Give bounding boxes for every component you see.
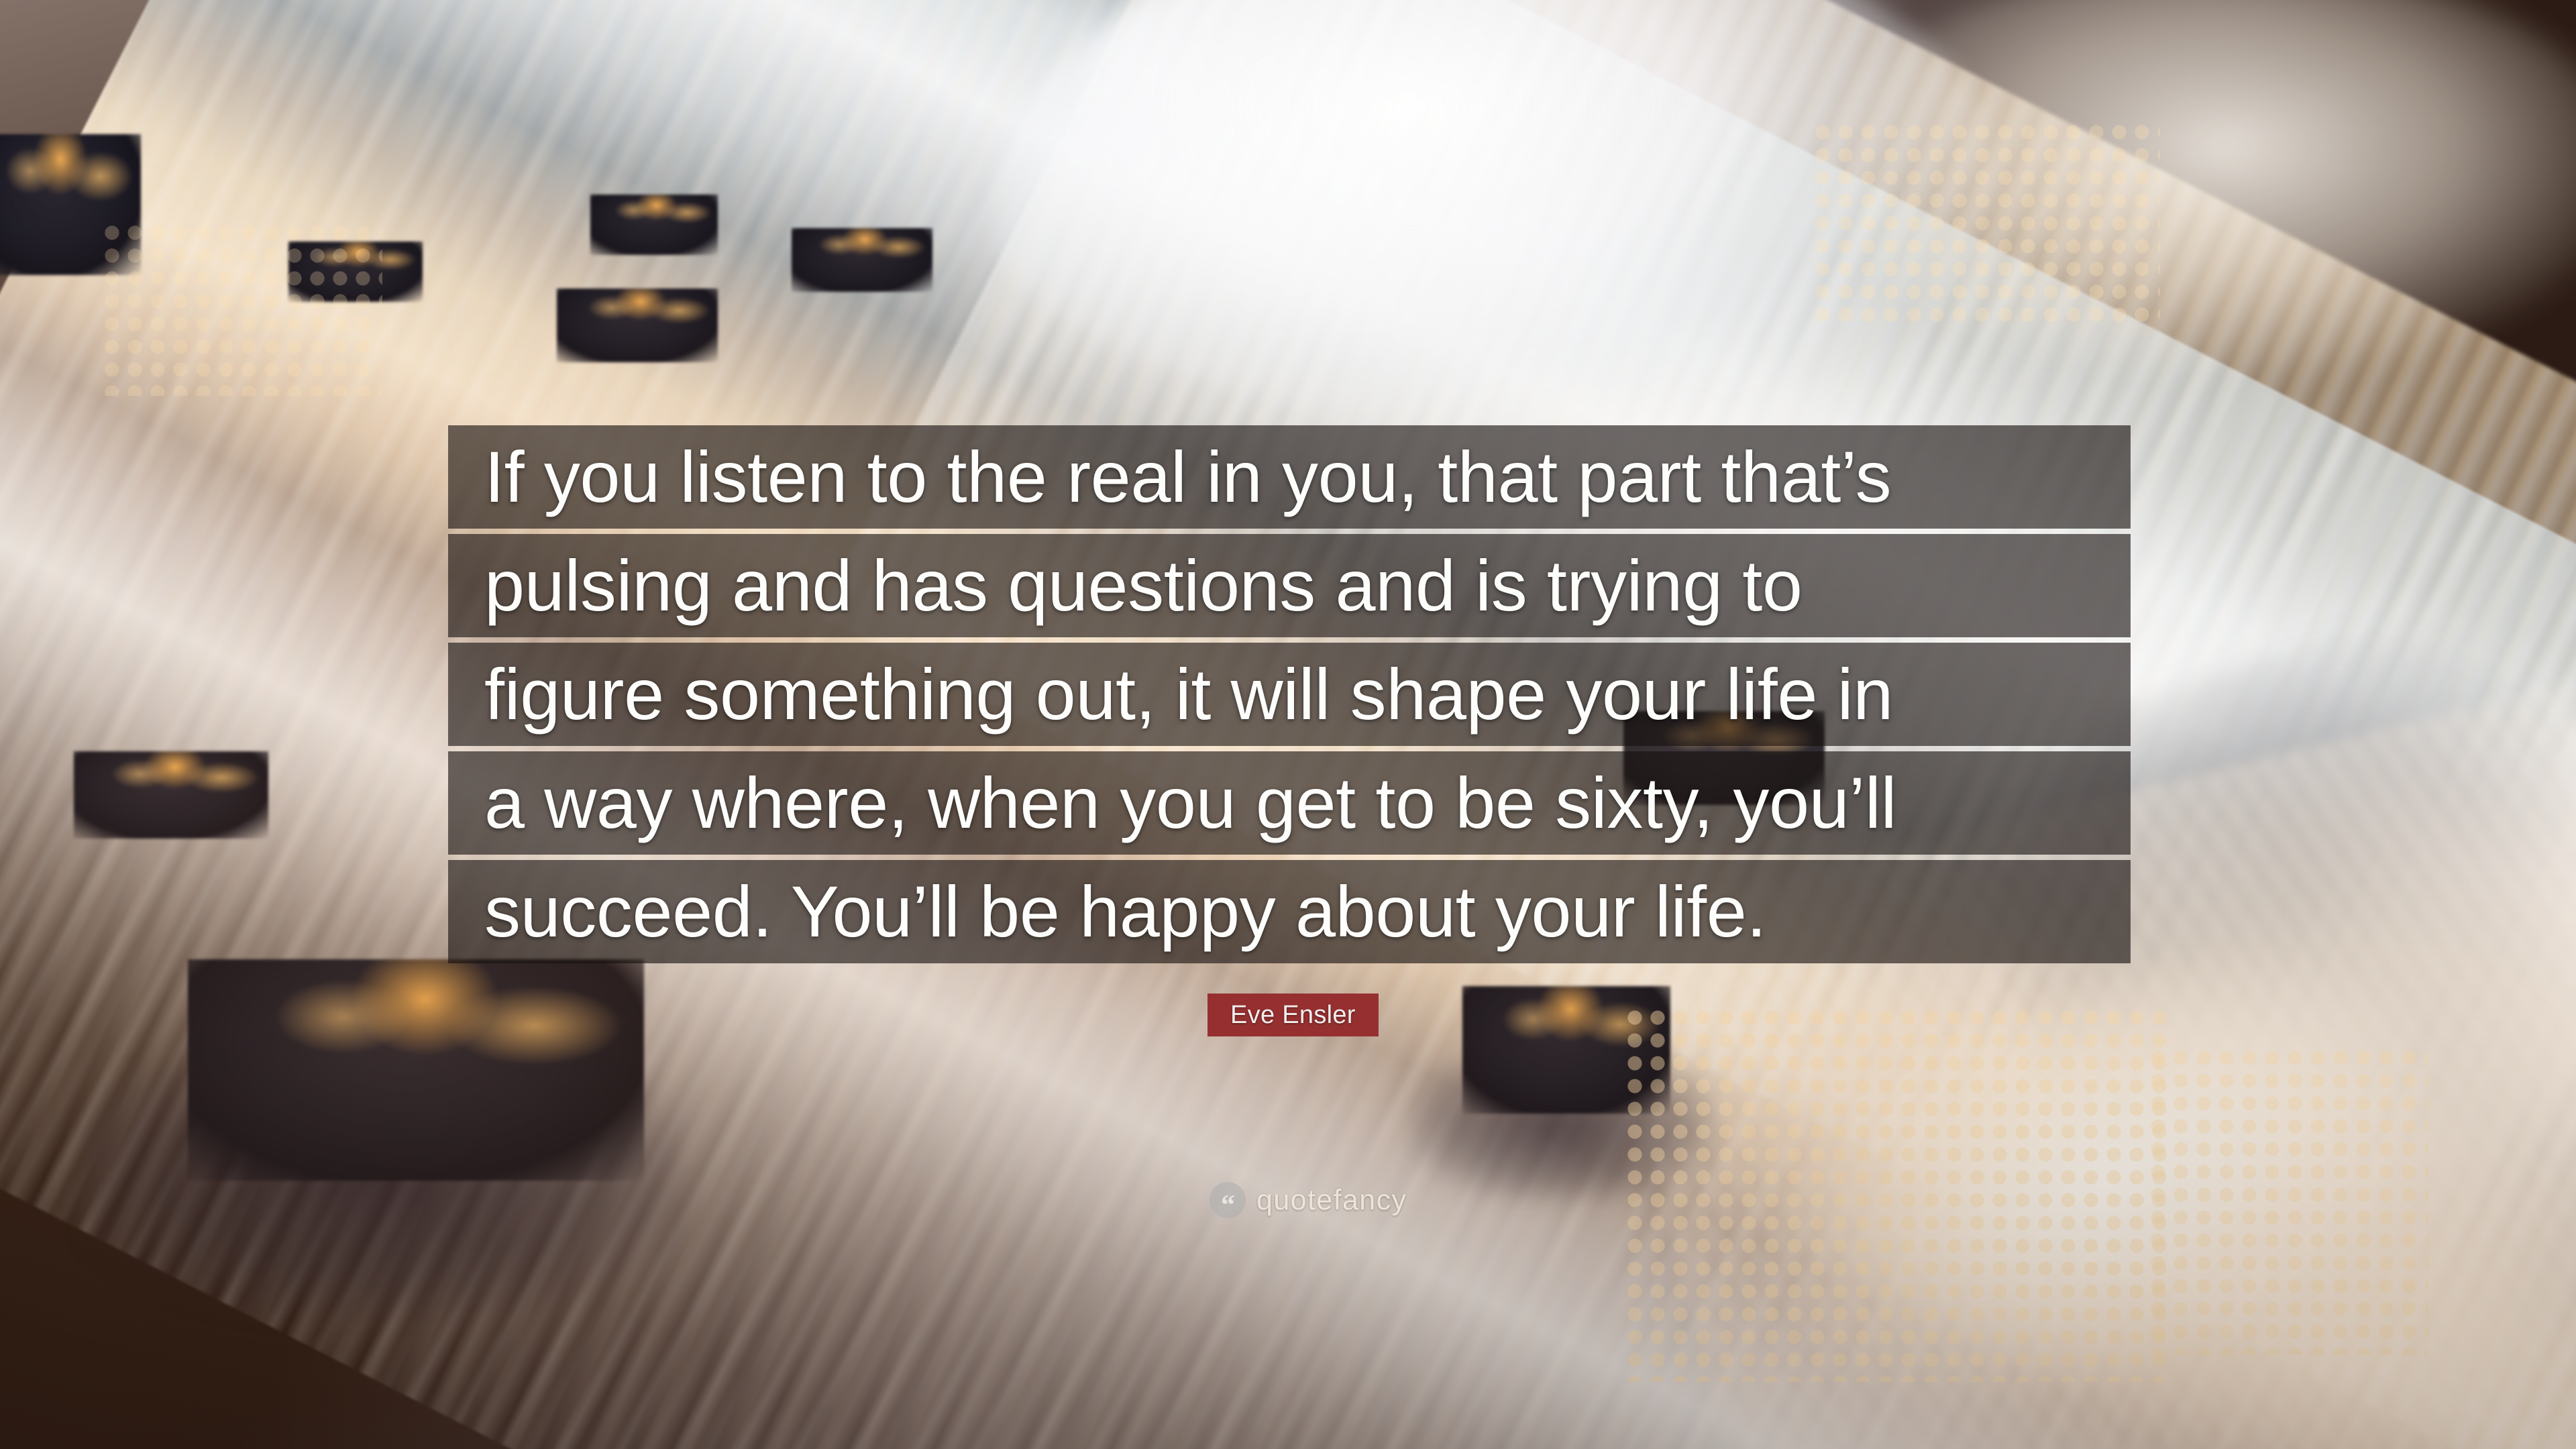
quote-line: pulsing and has questions and is trying … <box>448 534 2131 637</box>
watermark-brand-label: quotefancy <box>1256 1184 1407 1217</box>
quote-line: If you listen to the real in you, that p… <box>448 425 2131 529</box>
quote-line: a way where, when you get to be sixty, y… <box>448 751 2131 855</box>
quote-mark-icon: “ <box>1210 1182 1246 1218</box>
quote-block: If you listen to the real in you, that p… <box>448 425 2131 963</box>
quote-line: figure something out, it will shape your… <box>448 643 2131 746</box>
wallpaper-canvas: If you listen to the real in you, that p… <box>0 0 2576 1449</box>
quotefancy-watermark[interactable]: “ quotefancy <box>1210 1182 1407 1218</box>
author-badge[interactable]: Eve Ensler <box>1207 994 1379 1036</box>
quote-line: succeed. You’ll be happy about your life… <box>448 860 2131 963</box>
